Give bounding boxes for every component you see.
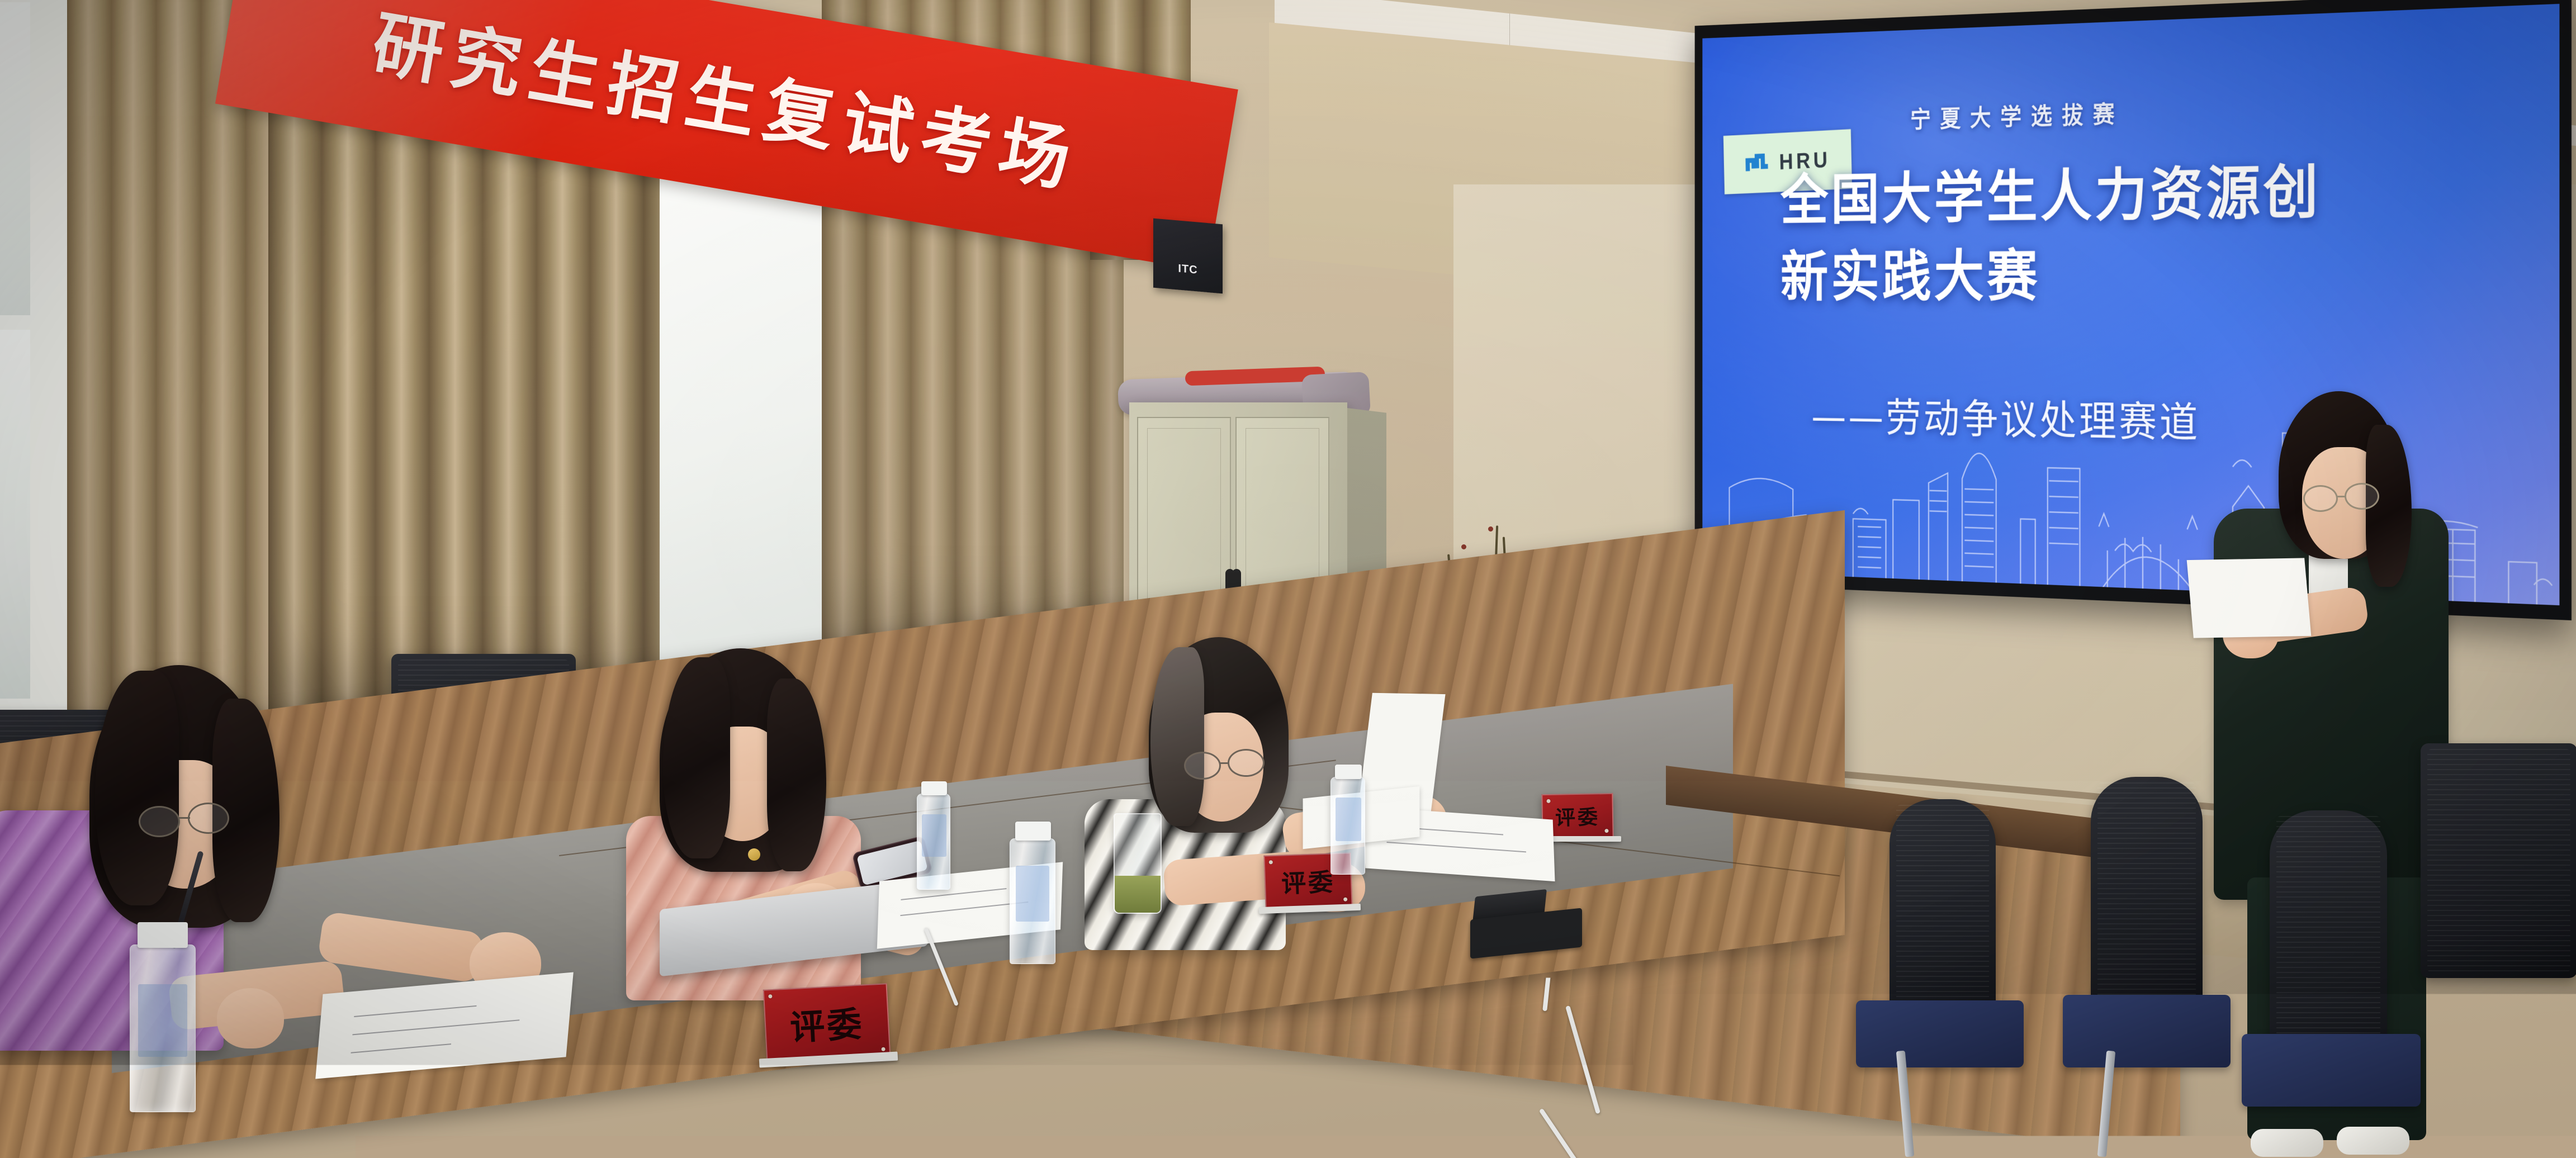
water-bottle-3[interactable] (1330, 777, 1365, 875)
presenter-glasses-left (2303, 485, 2338, 512)
water-bottle-2-cap[interactable] (1015, 822, 1051, 841)
water-bottle-3-cap[interactable] (1335, 765, 1362, 779)
presenter-glasses-right (2345, 483, 2379, 510)
judge-2-hair-front (663, 657, 730, 858)
presenter-glasses-bridge (2337, 496, 2346, 497)
judge-3-hair-front (1150, 647, 1204, 826)
water-bottle-4[interactable] (917, 794, 950, 890)
chair-front-right-3[interactable] (2270, 810, 2387, 1062)
judge-placard-1-text: 评委 (789, 996, 865, 1050)
water-bottle-4-cap[interactable] (921, 781, 947, 795)
chair-front-right-2[interactable] (1890, 799, 1996, 1023)
slide-kicker: 宁夏大学选拔赛 (1910, 95, 2124, 135)
judge-placard-1: 评委 (763, 983, 891, 1062)
judge-1-hair-front (95, 671, 179, 905)
water-bottle-1-cap[interactable] (138, 922, 188, 948)
slide-title-line-1: 全国大学生人力资源创 (1781, 149, 2414, 239)
judge-2-necklace (748, 848, 760, 861)
slide-subtitle: ——劳动争议处理赛道 (1811, 386, 2200, 450)
judge-1-hand-writing (217, 988, 284, 1048)
judge-2-hair-side (767, 678, 826, 871)
chair-front-right-1-seat[interactable] (2063, 995, 2231, 1067)
judge-1-glasses-bridge (179, 817, 190, 819)
slide-title: 全国大学生人力资源创 新实践大赛 (1781, 149, 2414, 317)
presenter-shoe-left (2251, 1129, 2323, 1157)
hru-mark-icon (1744, 149, 1772, 178)
tea-glass[interactable] (1114, 813, 1162, 914)
meeting-room-photo: 研究生招生复试考场 (0, 0, 2576, 1158)
chair-far-right[interactable] (2421, 743, 2576, 978)
presenter-script (2187, 558, 2312, 638)
judge-3-glasses-right (1228, 749, 1265, 777)
wall-speaker: ITC (1153, 219, 1223, 294)
tea-leaves (1115, 876, 1161, 913)
chair-front-right-3-seat[interactable] (2242, 1034, 2421, 1107)
water-bottle-1[interactable] (130, 945, 196, 1112)
judge-placard-3-text: 评委 (1555, 801, 1600, 830)
judge-placard-2-text: 评委 (1281, 862, 1336, 899)
judge-1-glasses-left (139, 806, 180, 837)
judge-3-glasses-bridge (1220, 762, 1229, 764)
judge-1-glasses-right (188, 803, 229, 834)
chair-front-right-1[interactable] (2091, 777, 2203, 1017)
speaker-brand-label: ITC (1178, 262, 1197, 277)
judge-3-glasses-left (1184, 752, 1221, 780)
chair-front-right-2-seat[interactable] (1856, 1000, 2024, 1067)
presenter-shoe-right (2337, 1127, 2409, 1155)
slide-title-line-2: 新实践大赛 (1781, 233, 2414, 317)
water-bottle-2[interactable] (1010, 838, 1055, 964)
judge-1-arm-left (317, 911, 485, 983)
